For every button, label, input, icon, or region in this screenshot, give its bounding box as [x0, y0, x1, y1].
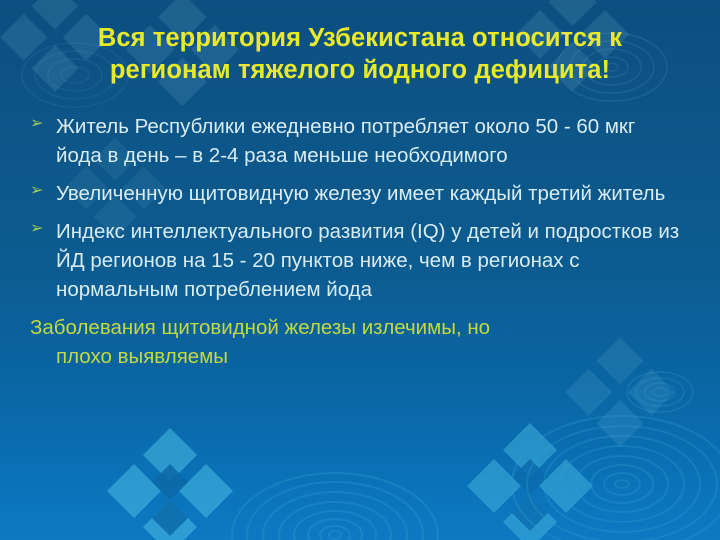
page-title-line-2: регионам тяжелого йодного дефицита!	[110, 56, 610, 84]
page-title: Вся территория Узбекистана относится к р…	[40, 22, 680, 86]
list-item-text: Индекс интеллектуального развития (IQ) у…	[56, 217, 680, 304]
bullet-list: ➢ Житель Республики ежедневно потребляет…	[30, 112, 680, 371]
list-item-text: Увеличенную щитовидную железу имеет кажд…	[56, 179, 680, 208]
closing-paragraph: Заболевания щитовидной железы излечимы, …	[30, 313, 680, 371]
list-item: ➢ Индекс интеллектуального развития (IQ)…	[30, 217, 680, 304]
page-title-line-1: Вся территория Узбекистана относится к	[98, 24, 622, 52]
slide-canvas: Вся территория Узбекистана относится к р…	[0, 0, 720, 540]
list-item-text: Житель Республики ежедневно потребляет о…	[56, 112, 680, 170]
list-item: ➢ Увеличенную щитовидную железу имеет ка…	[30, 179, 680, 208]
slide-content: Вся территория Узбекистана относится к р…	[0, 0, 720, 540]
list-item: ➢ Житель Республики ежедневно потребляет…	[30, 112, 680, 170]
arrow-bullet-icon: ➢	[30, 112, 56, 133]
arrow-bullet-icon: ➢	[30, 179, 56, 200]
arrow-bullet-icon: ➢	[30, 217, 56, 238]
closing-paragraph-line-2: плохо выявляемы	[30, 342, 680, 371]
closing-paragraph-line-1: Заболевания щитовидной железы излечимы, …	[30, 316, 490, 339]
